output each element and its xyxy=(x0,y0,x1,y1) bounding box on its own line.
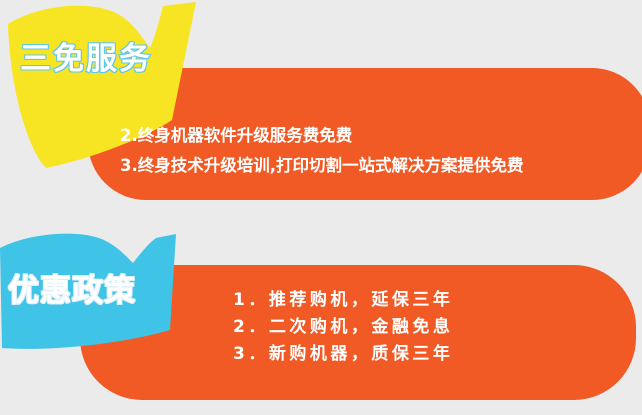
promo-poster: 三免服务 2.终身机器软件升级服务费免费 3.终身技术升级培训,打印切割一站式解… xyxy=(0,0,642,415)
preferential-policy-list: 1．推荐购机，延保三年 2．二次购机，金融免息 3．新购机器，质保三年 xyxy=(233,287,453,368)
list-item: 2．二次购机，金融免息 xyxy=(233,314,453,341)
list-item: 2.终身机器软件升级服务费免费 xyxy=(120,121,524,151)
section-title-preferential-policy: 优惠政策 xyxy=(8,276,136,307)
section-title-three-free-service: 三免服务 xyxy=(20,44,152,75)
list-item: 3．新购机器，质保三年 xyxy=(233,341,453,368)
list-item: 3.终身技术升级培训,打印切割一站式解决方案提供免费 xyxy=(120,151,524,181)
list-item: 1．推荐购机，延保三年 xyxy=(233,287,453,314)
three-free-service-list: 2.终身机器软件升级服务费免费 3.终身技术升级培训,打印切割一站式解决方案提供… xyxy=(120,121,524,181)
